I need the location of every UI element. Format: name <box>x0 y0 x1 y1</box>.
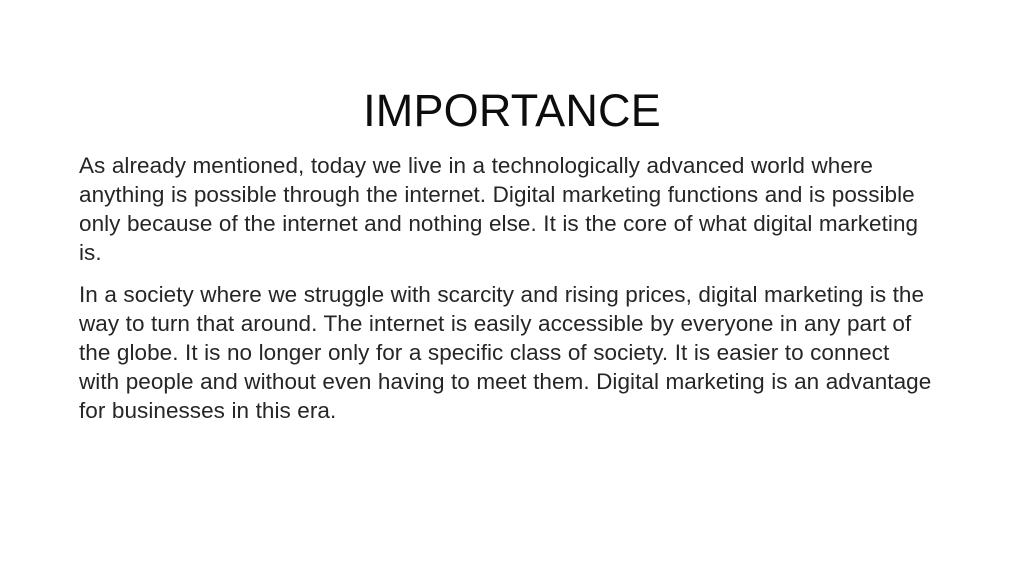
body-paragraph-1: As already mentioned, today we live in a… <box>79 151 935 267</box>
body-paragraph-2: In a society where we struggle with scar… <box>79 280 935 425</box>
presentation-slide: IMPORTANCE As already mentioned, today w… <box>0 0 1024 576</box>
page-title: IMPORTANCE <box>0 87 1024 134</box>
slide-body-text: As already mentioned, today we live in a… <box>79 151 935 425</box>
